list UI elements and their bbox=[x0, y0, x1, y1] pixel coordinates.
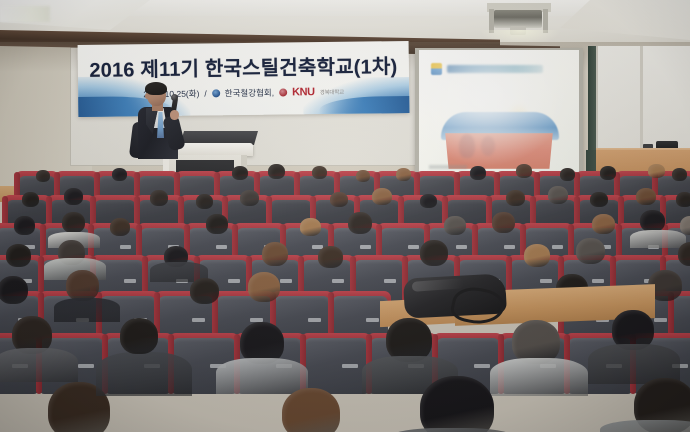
microphone-head bbox=[171, 94, 178, 101]
association-logo-icon bbox=[212, 89, 220, 97]
banner-title: 2016 제11기 한국스틸건축학교(1차) bbox=[78, 50, 409, 83]
attendee-head bbox=[62, 212, 85, 233]
attendee-head-foreground bbox=[420, 376, 494, 432]
attendee-head bbox=[506, 190, 525, 206]
attendee-head bbox=[560, 168, 575, 181]
attendee-shoulders bbox=[54, 298, 120, 322]
attendee-head bbox=[600, 166, 616, 180]
attendee-head bbox=[396, 168, 411, 181]
seat-number-tag bbox=[78, 364, 93, 368]
seminar-photo: 2016 제11기 한국스틸건축학교(1차) 2016.10.25(화) / 한… bbox=[0, 0, 690, 432]
attendee-head bbox=[112, 168, 127, 181]
attendee-head bbox=[672, 168, 687, 181]
ceiling-light-fixture bbox=[0, 6, 50, 22]
seat-number-tag bbox=[192, 318, 205, 322]
seat-number-tag bbox=[332, 279, 344, 282]
attendee-shoulders bbox=[630, 230, 686, 248]
seat-number-tag bbox=[342, 364, 357, 368]
attendee-shoulders bbox=[0, 348, 78, 382]
attendee-head bbox=[592, 214, 615, 234]
attendee-head bbox=[300, 218, 321, 236]
attendee-head bbox=[240, 190, 259, 206]
seat-number-tag bbox=[474, 364, 489, 368]
seat-number-tag bbox=[384, 279, 396, 282]
seat-number-tag bbox=[552, 245, 563, 248]
slide-logo-icon bbox=[431, 63, 442, 75]
auditorium-seat bbox=[304, 338, 368, 394]
attendee-head bbox=[196, 194, 213, 209]
attendee-head bbox=[22, 192, 39, 207]
knu-logo-icon bbox=[279, 88, 287, 96]
attendee-head bbox=[590, 192, 608, 207]
attendee-head bbox=[330, 192, 348, 207]
knu-abbreviation: KNU bbox=[292, 86, 315, 98]
slide-dome-arch-1 bbox=[459, 134, 475, 158]
attendee-head bbox=[348, 212, 372, 234]
attendee-head bbox=[548, 186, 568, 204]
seat-number-tag bbox=[228, 279, 240, 282]
slide-footnote bbox=[429, 165, 467, 169]
attendee-head bbox=[268, 164, 285, 179]
seat-number-tag bbox=[366, 318, 379, 322]
attendee-head bbox=[678, 242, 690, 266]
projection-screen bbox=[419, 50, 579, 176]
slide-heading-text bbox=[447, 65, 543, 73]
attendee-head bbox=[6, 244, 31, 267]
attendee-shoulders bbox=[490, 358, 588, 396]
attendee-head bbox=[64, 188, 83, 205]
attendee-head bbox=[636, 188, 656, 205]
seat-number-tag bbox=[654, 318, 667, 322]
right-whiteboard bbox=[596, 46, 690, 156]
seat-number-tag bbox=[456, 245, 467, 248]
attendee-head bbox=[444, 216, 466, 235]
attendee-shoulders bbox=[216, 358, 308, 394]
attendee-head bbox=[190, 278, 219, 304]
knu-full-name: 경북대학교 bbox=[320, 88, 344, 96]
attendee-head bbox=[150, 190, 168, 206]
attendee-head bbox=[262, 242, 288, 266]
attendee-head bbox=[312, 166, 327, 179]
attendee-shoulders bbox=[600, 420, 690, 432]
attendee-head bbox=[516, 164, 532, 178]
event-banner: 2016 제11기 한국스틸건축학교(1차) 2016.10.25(화) / 한… bbox=[78, 41, 410, 117]
attendee-head-foreground bbox=[120, 318, 158, 354]
attendee-head bbox=[420, 194, 437, 208]
seat-number-tag bbox=[408, 245, 419, 248]
attendee-head bbox=[576, 238, 605, 264]
slide-dome-arch-2 bbox=[481, 136, 495, 156]
attendee-head bbox=[110, 218, 130, 236]
attendee-shoulders bbox=[96, 352, 192, 396]
attendee-shoulders bbox=[392, 428, 512, 432]
attendee-head bbox=[492, 212, 515, 233]
seat-number-tag bbox=[504, 245, 515, 248]
attendee-head bbox=[356, 170, 370, 182]
attendee-head bbox=[524, 244, 550, 267]
attendee-head bbox=[676, 192, 690, 207]
seat-number-tag bbox=[360, 245, 371, 248]
right-whiteboard-divider bbox=[640, 46, 643, 156]
seat-number-tag bbox=[280, 279, 292, 282]
attendee-head bbox=[372, 188, 392, 205]
attendee-head bbox=[14, 216, 35, 235]
banner-organizer: 한국철강협회, bbox=[225, 87, 274, 100]
seat-number-tag bbox=[120, 245, 131, 248]
attendee-head bbox=[66, 270, 99, 301]
seat-number-tag bbox=[124, 279, 136, 282]
attendee-head bbox=[420, 240, 448, 266]
speaker-hand bbox=[170, 110, 179, 120]
seat-number-tag bbox=[216, 245, 227, 248]
seat-number-tag bbox=[308, 318, 321, 322]
banner-separator: / bbox=[204, 88, 206, 98]
seat-back bbox=[304, 338, 368, 394]
attendee-head bbox=[206, 214, 228, 234]
attendee-head bbox=[470, 166, 486, 180]
attendee-head bbox=[0, 276, 28, 304]
seat-number-tag bbox=[540, 279, 552, 282]
attendee-head bbox=[248, 272, 280, 302]
attendee-head bbox=[36, 170, 50, 182]
attendee-head bbox=[318, 246, 343, 268]
seat-number-tag bbox=[592, 279, 604, 282]
speaker-ear bbox=[145, 93, 149, 99]
attendee-head bbox=[232, 166, 248, 180]
attendee-head bbox=[648, 164, 665, 178]
attendee-head bbox=[640, 210, 665, 232]
attendee-head-foreground bbox=[282, 388, 340, 432]
